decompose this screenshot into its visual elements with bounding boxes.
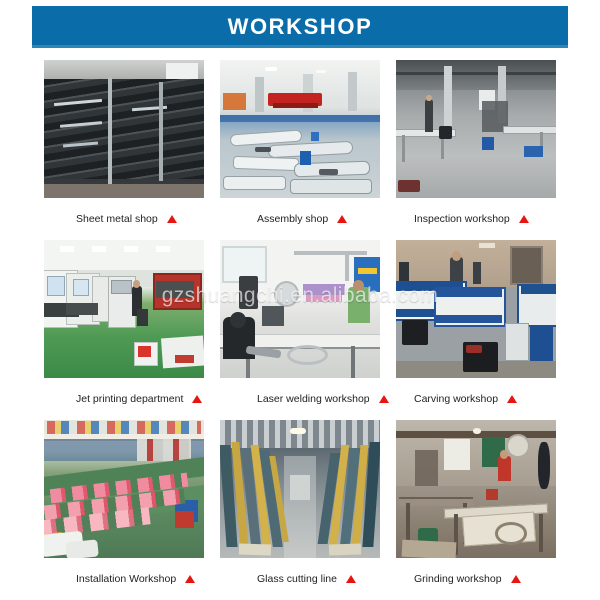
- scene-carving-workshop: [396, 240, 556, 378]
- thumbnail-installation-workshop[interactable]: [44, 420, 204, 558]
- page-header-banner: WORKSHOP: [32, 6, 568, 48]
- thumbnail-grinding-workshop[interactable]: [396, 420, 556, 558]
- gallery-item-laser-welding-workshop[interactable]: Laser welding workshop: [220, 240, 380, 420]
- caption-laser-welding-workshop: Laser welding workshop: [220, 378, 380, 420]
- red-triangle-up-icon: [507, 395, 517, 403]
- thumbnail-assembly-shop[interactable]: [220, 60, 380, 198]
- workshop-gallery-page: WORKSHOP Sheet metal shop: [0, 0, 600, 600]
- caption-grinding-workshop: Grinding workshop: [396, 558, 556, 600]
- workshop-grid: Sheet metal shop Assembly shop: [44, 60, 556, 600]
- thumbnail-glass-cutting-line[interactable]: [220, 420, 380, 558]
- red-triangle-up-icon: [337, 215, 347, 223]
- scene-inspection-workshop: [396, 60, 556, 198]
- gallery-item-carving-workshop[interactable]: Carving workshop: [396, 240, 556, 420]
- caption-inspection-workshop: Inspection workshop: [396, 198, 556, 240]
- thumbnail-laser-welding-workshop[interactable]: [220, 240, 380, 378]
- red-triangle-up-icon: [511, 575, 521, 583]
- caption-installation-workshop: Installation Workshop: [44, 558, 204, 600]
- red-triangle-up-icon: [346, 575, 356, 583]
- caption-glass-cutting-line: Glass cutting line: [220, 558, 380, 600]
- caption-sheet-metal-shop: Sheet metal shop: [44, 198, 204, 240]
- caption-label: Grinding workshop: [414, 573, 502, 585]
- scene-jet-printing-department: [44, 240, 204, 378]
- caption-carving-workshop: Carving workshop: [396, 378, 556, 420]
- caption-label: Sheet metal shop: [76, 213, 158, 225]
- red-triangle-up-icon: [379, 395, 389, 403]
- caption-label: Installation Workshop: [76, 573, 176, 585]
- caption-label: Inspection workshop: [414, 213, 510, 225]
- thumbnail-jet-printing-department[interactable]: [44, 240, 204, 378]
- gallery-item-glass-cutting-line[interactable]: Glass cutting line: [220, 420, 380, 600]
- gallery-item-sheet-metal-shop[interactable]: Sheet metal shop: [44, 60, 204, 240]
- caption-label: Laser welding workshop: [257, 393, 370, 405]
- caption-label: Assembly shop: [257, 213, 328, 225]
- scene-grinding-workshop: [396, 420, 556, 558]
- caption-label: Glass cutting line: [257, 573, 337, 585]
- gallery-item-jet-printing-department[interactable]: Jet printing department: [44, 240, 204, 420]
- scene-glass-cutting-line: [220, 420, 380, 558]
- red-triangle-up-icon: [192, 395, 202, 403]
- thumbnail-carving-workshop[interactable]: [396, 240, 556, 378]
- header-bottom-shade: [32, 45, 568, 48]
- gallery-item-inspection-workshop[interactable]: Inspection workshop: [396, 60, 556, 240]
- scene-laser-welding-workshop: [220, 240, 380, 378]
- thumbnail-inspection-workshop[interactable]: [396, 60, 556, 198]
- scene-installation-workshop: [44, 420, 204, 558]
- scene-sheet-metal-shop: [44, 60, 204, 198]
- thumbnail-sheet-metal-shop[interactable]: [44, 60, 204, 198]
- gallery-item-grinding-workshop[interactable]: Grinding workshop: [396, 420, 556, 600]
- caption-label: Jet printing department: [76, 393, 183, 405]
- caption-assembly-shop: Assembly shop: [220, 198, 380, 240]
- red-triangle-up-icon: [167, 215, 177, 223]
- scene-assembly-shop: [220, 60, 380, 198]
- red-triangle-up-icon: [185, 575, 195, 583]
- caption-label: Carving workshop: [414, 393, 498, 405]
- page-title: WORKSHOP: [228, 14, 373, 40]
- red-triangle-up-icon: [519, 215, 529, 223]
- gallery-item-installation-workshop[interactable]: Installation Workshop: [44, 420, 204, 600]
- gallery-item-assembly-shop[interactable]: Assembly shop: [220, 60, 380, 240]
- caption-jet-printing-department: Jet printing department: [44, 378, 204, 420]
